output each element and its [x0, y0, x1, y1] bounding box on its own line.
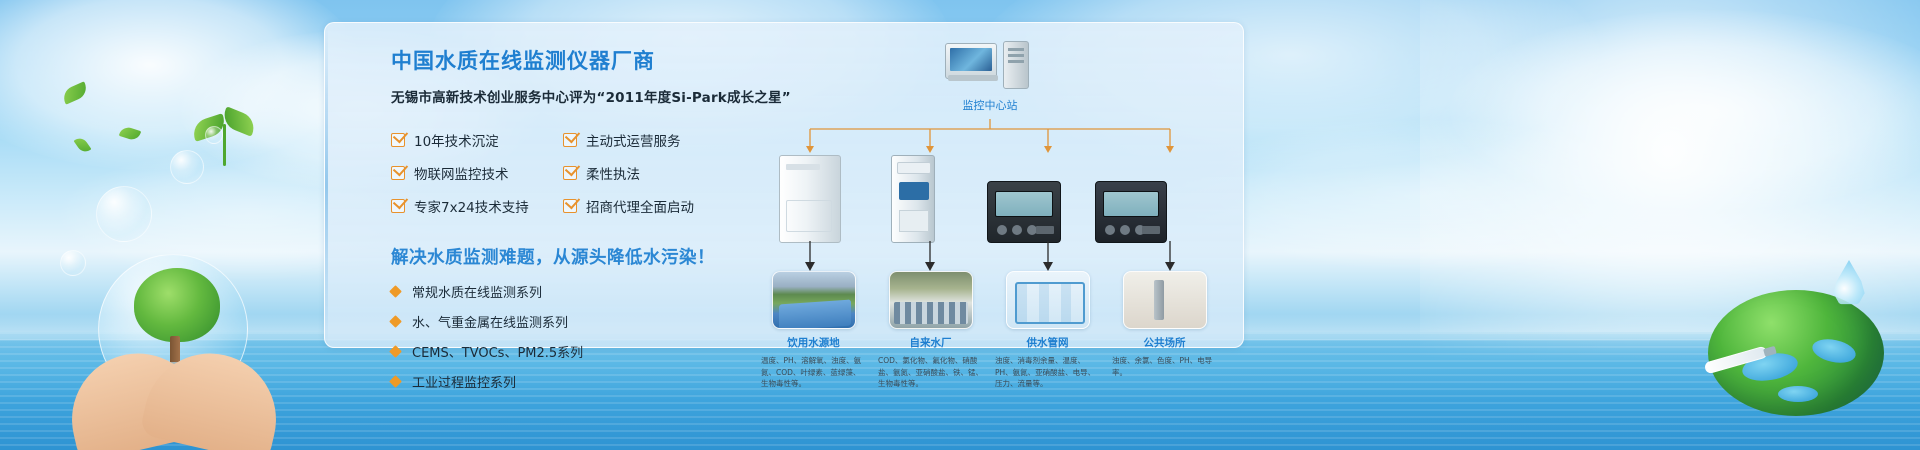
- leaf-icon: [60, 81, 89, 104]
- cloud-shape: [1450, 10, 1920, 210]
- device-cabinet-analyzer: [779, 155, 841, 243]
- list-item: CEMS、TVOCs、PM2.5系列: [391, 342, 751, 361]
- checkbox-checked-icon: [391, 133, 405, 147]
- list-item-label: 水、气重金属在线监测系列: [412, 312, 568, 331]
- cloud-shape: [1180, 120, 1660, 270]
- green-globe-illustration: [1708, 266, 1884, 416]
- monitoring-center-computer-icon: [945, 41, 1029, 93]
- checkbox-checked-icon: [391, 199, 405, 213]
- scenario-title: 供水管网: [989, 335, 1106, 350]
- scenario-card[interactable]: 饮用水源地 温度、PH、溶解氧、浊度、氨氮、COD、叶绿素、蓝绿藻、生物毒性等。: [755, 271, 872, 381]
- water-drop-icon: [1832, 260, 1866, 306]
- feature-checklist: 10年技术沉淀 主动式运营服务 物联网监控技术 柔性执法 专家7x24技术支持 …: [391, 130, 751, 216]
- check-item-label: 柔性执法: [586, 163, 640, 183]
- checkbox-checked-icon: [563, 166, 577, 180]
- check-item-label: 物联网监控技术: [414, 163, 509, 183]
- checkbox-checked-icon: [563, 199, 577, 213]
- check-item: 柔性执法: [563, 163, 735, 183]
- check-item-label: 主动式运营服务: [586, 130, 681, 150]
- content-card: 中国水质在线监测仪器厂商 无锡市高新技术创业服务中心评为“2011年度Si-Pa…: [324, 22, 1244, 348]
- scenario-card[interactable]: 自来水厂 COD、氯化物、氟化物、硝酸盐、氨氮、亚硝酸盐、铁、锰、生物毒性等。: [872, 271, 989, 381]
- device-controller-1: [987, 181, 1061, 243]
- list-item: 水、气重金属在线监测系列: [391, 312, 751, 331]
- list-item-label: 常规水质在线监测系列: [412, 282, 542, 301]
- page-title: 中国水质在线监测仪器厂商: [391, 45, 751, 75]
- system-topology-diagram: 监控中心站: [755, 35, 1225, 335]
- scenario-description: 浊度、消毒剂余量、温度、PH、氨氮、亚硝酸盐、电导、压力、流量等。: [989, 355, 1106, 390]
- check-item-label: 招商代理全面启动: [586, 196, 694, 216]
- scenario-photo-drinking-water-source: [772, 271, 856, 329]
- bubble-icon: [170, 150, 204, 184]
- scenario-title: 公共场所: [1106, 335, 1223, 350]
- diamond-bullet-icon: [389, 315, 402, 328]
- checkbox-checked-icon: [563, 133, 577, 147]
- check-item: 招商代理全面启动: [563, 196, 735, 216]
- scenario-card[interactable]: 供水管网 浊度、消毒剂余量、温度、PH、氨氮、亚硝酸盐、电导、压力、流量等。: [989, 271, 1106, 381]
- check-item: 10年技术沉淀: [391, 130, 563, 150]
- section-subheading: 解决水质监测难题，从源头降低水污染！: [391, 244, 751, 269]
- list-item-label: CEMS、TVOCs、PM2.5系列: [412, 342, 583, 361]
- scenario-photo-public-place: [1123, 271, 1207, 329]
- check-item: 专家7x24技术支持: [391, 196, 563, 216]
- scenario-card[interactable]: 公共场所 浊度、余氯、色度、PH、电导率。: [1106, 271, 1223, 381]
- product-series-list: 常规水质在线监测系列 水、气重金属在线监测系列 CEMS、TVOCs、PM2.5…: [391, 282, 751, 391]
- monitoring-center-label: 监控中心站: [905, 97, 1075, 113]
- list-item: 常规水质在线监测系列: [391, 282, 751, 301]
- bubble-icon: [205, 126, 223, 144]
- check-item: 主动式运营服务: [563, 130, 735, 150]
- diamond-bullet-icon: [389, 345, 402, 358]
- page-subtitle: 无锡市高新技术创业服务中心评为“2011年度Si-Park成长之星”: [391, 86, 751, 106]
- check-item-label: 专家7x24技术支持: [414, 196, 529, 216]
- diamond-bullet-icon: [389, 285, 402, 298]
- down-arrows: [755, 241, 1225, 273]
- list-item-label: 工业过程监控系列: [412, 372, 516, 391]
- scenario-photo-water-plant: [889, 271, 973, 329]
- device-rack-analyzer: [891, 155, 935, 243]
- hands-holding-tree-illustration: [62, 250, 292, 450]
- check-item: 物联网监控技术: [391, 163, 563, 183]
- scenario-description: COD、氯化物、氟化物、硝酸盐、氨氮、亚硝酸盐、铁、锰、生物毒性等。: [872, 355, 989, 390]
- list-item: 工业过程监控系列: [391, 372, 751, 391]
- device-row: [755, 147, 1225, 243]
- check-item-label: 10年技术沉淀: [414, 130, 499, 150]
- leaf-icon: [74, 135, 92, 155]
- checkbox-checked-icon: [391, 166, 405, 180]
- diamond-bullet-icon: [389, 375, 402, 388]
- scenario-title: 饮用水源地: [755, 335, 872, 350]
- scenario-title: 自来水厂: [872, 335, 989, 350]
- scenario-cards: 饮用水源地 温度、PH、溶解氧、浊度、氨氮、COD、叶绿素、蓝绿藻、生物毒性等。…: [755, 271, 1225, 381]
- device-controller-2: [1095, 181, 1167, 243]
- card-left-column: 中国水质在线监测仪器厂商 无锡市高新技术创业服务中心评为“2011年度Si-Pa…: [391, 45, 751, 391]
- scenario-photo-water-network: [1006, 271, 1090, 329]
- leaf-icon: [119, 125, 141, 142]
- bubble-icon: [96, 186, 152, 242]
- scenario-description: 浊度、余氯、色度、PH、电导率。: [1106, 355, 1223, 378]
- cloud-shape: [0, 0, 360, 170]
- scenario-description: 温度、PH、溶解氧、浊度、氨氮、COD、叶绿素、蓝绿藻、生物毒性等。: [755, 355, 872, 390]
